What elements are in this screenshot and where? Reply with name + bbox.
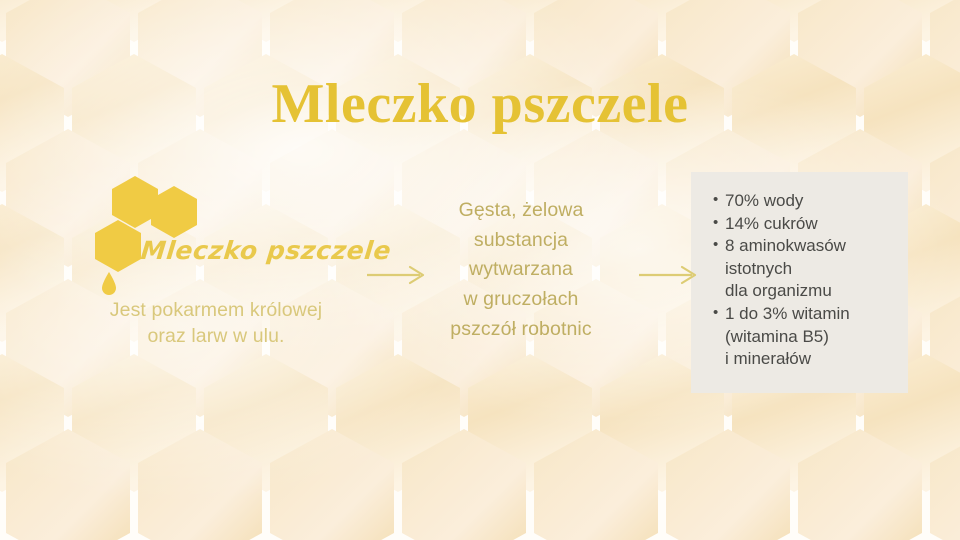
logo-row: Mleczko pszczele xyxy=(46,168,386,296)
list-item: 14% cukrów xyxy=(713,213,898,236)
middle-line-3: wytwarzana xyxy=(408,255,634,285)
honeycomb-logo-icon xyxy=(92,168,198,296)
list-item: 8 aminokwasówistotnychdla organizmu xyxy=(713,235,898,303)
middle-description: Gęsta, żelowa substancja wytwarzana w gr… xyxy=(408,196,634,344)
list-item: 1 do 3% witamin(witamina B5)i minerałów xyxy=(713,303,898,371)
middle-line-1: Gęsta, żelowa xyxy=(408,196,634,226)
list-item: 70% wody xyxy=(713,190,898,213)
left-caption-line-1: Jest pokarmem królowej xyxy=(46,298,386,324)
page-title: Mleczko pszczele xyxy=(0,76,960,132)
brand-script-text: Mleczko pszczele xyxy=(139,236,392,265)
composition-panel: 70% wody 14% cukrów 8 aminokwasówistotny… xyxy=(691,172,908,393)
slide-canvas: Mleczko pszczele Mleczko pszczele Jest p… xyxy=(0,0,960,540)
middle-line-5: pszczół robotnic xyxy=(408,315,634,345)
composition-bullet-list: 70% wody 14% cukrów 8 aminokwasówistotny… xyxy=(691,172,908,371)
middle-line-2: substancja xyxy=(408,226,634,256)
left-section: Mleczko pszczele Jest pokarmem królowej … xyxy=(46,168,386,349)
arrow-right-icon-2 xyxy=(638,262,700,288)
middle-line-4: w gruczołach xyxy=(408,285,634,315)
left-caption: Jest pokarmem królowej oraz larw w ulu. xyxy=(46,298,386,349)
left-caption-line-2: oraz larw w ulu. xyxy=(46,324,386,350)
